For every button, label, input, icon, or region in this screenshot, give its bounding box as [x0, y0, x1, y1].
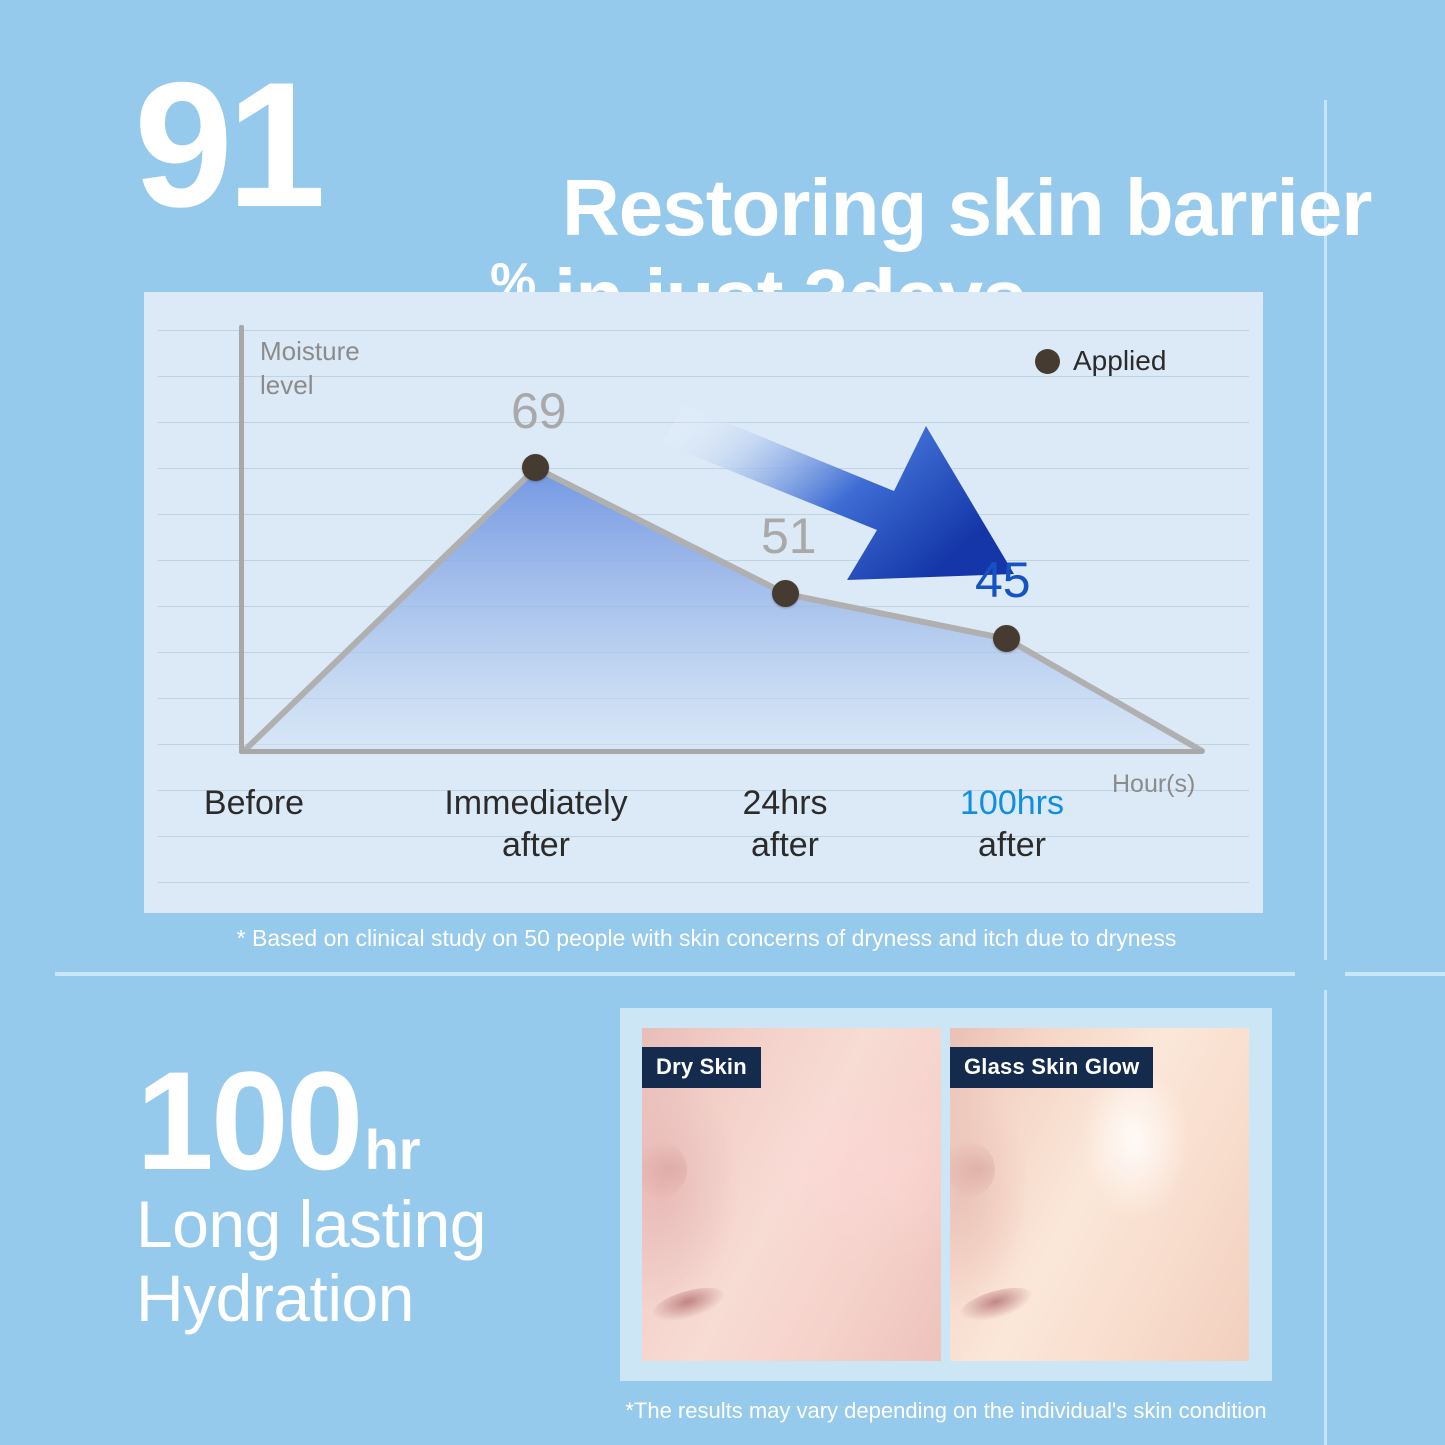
data-point-100hrs-after — [993, 625, 1020, 652]
headline-block: 91 % Restoring skin barrier in just 3day… — [134, 78, 1314, 263]
horizontal-divider-left — [55, 972, 1295, 976]
x-label-big: 24hrs — [689, 782, 881, 824]
data-label-69: 69 — [511, 386, 567, 436]
claim-line-1: Long lasting — [136, 1187, 606, 1261]
claim-number-row: 100hr — [136, 1055, 606, 1187]
vertical-divider-bottom — [1324, 990, 1327, 1445]
chart-footnote: * Based on clinical study on 50 people w… — [144, 925, 1269, 952]
x-label-big: 100hrs — [907, 782, 1117, 824]
x-label-small: after — [409, 824, 663, 866]
claim-unit: hr — [365, 1122, 421, 1178]
x-axis-label-before: Before — [174, 782, 334, 824]
x-label-small: after — [907, 824, 1117, 866]
hydration-claim-block: 100hr Long lasting Hydration — [136, 1055, 606, 1335]
horizontal-divider-right — [1345, 972, 1445, 976]
photo-tag-dry-skin: Dry Skin — [642, 1047, 761, 1088]
trend-arrow-icon — [662, 405, 1014, 580]
chart-y-axis — [239, 325, 244, 753]
data-point-24hrs-after — [772, 580, 799, 607]
y-axis-title-line2: level — [260, 368, 360, 402]
headline-line-1: Restoring skin barrier — [562, 168, 1371, 248]
chart-y-axis-title: Moisture level — [260, 334, 360, 402]
x-axis-label-24hrs-after: 24hrs after — [689, 782, 881, 866]
photo-footnote: *The results may vary depending on the i… — [590, 1398, 1302, 1424]
x-label-big: Before — [174, 782, 334, 824]
data-label-51: 51 — [761, 511, 817, 561]
photo-row: Dry Skin Glass Skin Glow — [642, 1028, 1250, 1361]
photo-glass-skin-glow: Glass Skin Glow — [950, 1028, 1249, 1361]
before-after-photo-panel: Dry Skin Glass Skin Glow — [620, 1008, 1272, 1381]
chart-x-axis-title: Hour(s) — [1112, 770, 1195, 799]
data-point-immediately-after — [522, 454, 549, 481]
y-axis-title-line1: Moisture — [260, 334, 360, 368]
legend-dot-icon — [1035, 349, 1060, 374]
chart-legend: Applied — [1035, 345, 1166, 377]
legend-label-applied: Applied — [1073, 345, 1166, 377]
x-axis-label-100hrs-after: 100hrs after — [907, 782, 1117, 866]
data-label-45: 45 — [975, 555, 1031, 605]
chart-plot-area: Moisture level Hour(s) Applied 69 51 45 … — [144, 292, 1263, 913]
claim-number: 100 — [136, 1055, 361, 1187]
claim-line-2: Hydration — [136, 1261, 606, 1335]
x-axis-label-immediately-after: Immediately after — [409, 782, 663, 866]
headline-percent-number: 91 — [134, 56, 320, 234]
moisture-chart-panel: Moisture level Hour(s) Applied 69 51 45 … — [144, 292, 1263, 913]
chart-x-axis — [239, 749, 1204, 754]
x-label-small: after — [689, 824, 881, 866]
photo-tag-glass-skin-glow: Glass Skin Glow — [950, 1047, 1153, 1088]
photo-dry-skin: Dry Skin — [642, 1028, 941, 1361]
x-label-big: Immediately — [409, 782, 663, 824]
